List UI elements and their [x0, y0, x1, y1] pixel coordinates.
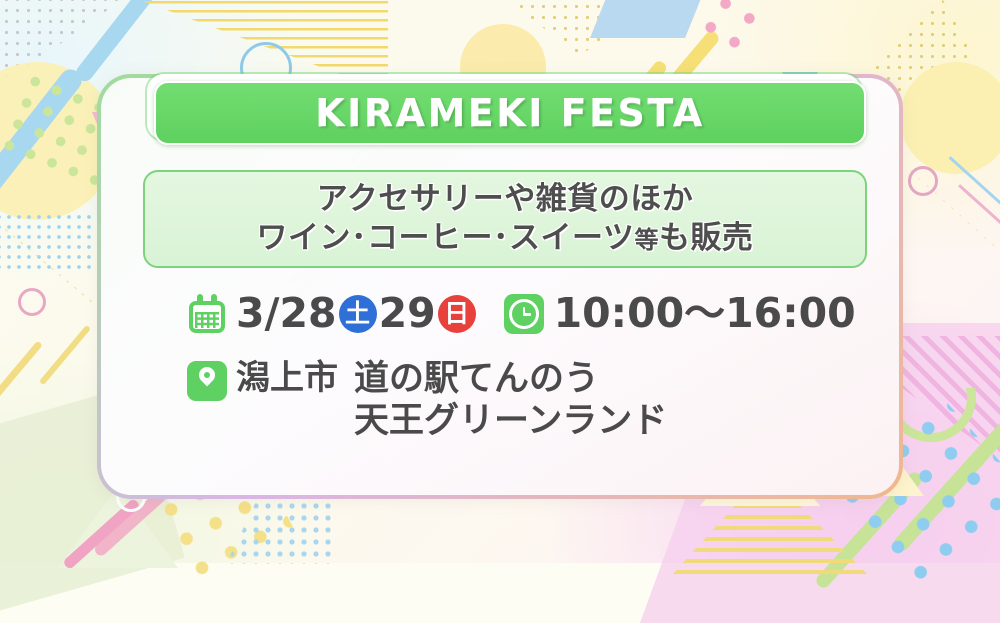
event-time: 10:00〜16:00 [554, 293, 856, 334]
venue-line-2: 天王グリーンランド [354, 400, 667, 442]
calendar-grid [195, 312, 219, 328]
subtitle-line-2: ワイン･コーヒー･スイーツ等も販売 [257, 220, 754, 258]
title-banner: KIRAMEKI FESTA [154, 81, 866, 145]
page-title: KIRAMEKI FESTA [315, 91, 705, 135]
saturday-badge: 土 [339, 295, 377, 333]
map-pin-hole [204, 372, 210, 378]
subtitle-box: アクセサリーや雑貨のほか ワイン･コーヒー･スイーツ等も販売 [143, 170, 867, 268]
sunday-badge: 日 [438, 295, 476, 333]
location-venue: 道の駅てんのう 天王グリーンランド [354, 358, 667, 442]
event-card: KIRAMEKI FESTA アクセサリーや雑貨のほか ワイン･コーヒー･スイー… [97, 74, 903, 499]
date-time-row: 3/28 土 29 日 10:00〜16:00 [187, 293, 899, 334]
date-first: 3/28 [236, 293, 337, 334]
clock-minute-hand [523, 313, 531, 316]
location-row: 潟上市 道の駅てんのう 天王グリーンランド [187, 358, 899, 442]
location-city: 潟上市 [236, 358, 338, 398]
title-banner-outline: KIRAMEKI FESTA [147, 74, 861, 140]
map-pin-icon [187, 361, 227, 401]
event-card-inner: KIRAMEKI FESTA アクセサリーや雑貨のほか ワイン･コーヒー･スイー… [101, 78, 899, 495]
event-info: 3/28 土 29 日 10:00〜16:00 潟上市 道の駅てんのう [101, 293, 899, 442]
subtitle-line-1: アクセサリーや雑貨のほか [317, 181, 693, 219]
subtitle-line-2-main: ワイン･コーヒー･スイーツ [257, 220, 635, 256]
clock-icon [504, 294, 544, 334]
venue-line-1: 道の駅てんのう [354, 358, 667, 400]
subtitle-line-2-nado: 等 [634, 226, 659, 254]
date-second: 29 [379, 293, 436, 334]
decor-pink-ring-left [18, 288, 46, 316]
calendar-icon [187, 294, 227, 334]
subtitle-line-2-tail: も販売 [659, 220, 754, 256]
